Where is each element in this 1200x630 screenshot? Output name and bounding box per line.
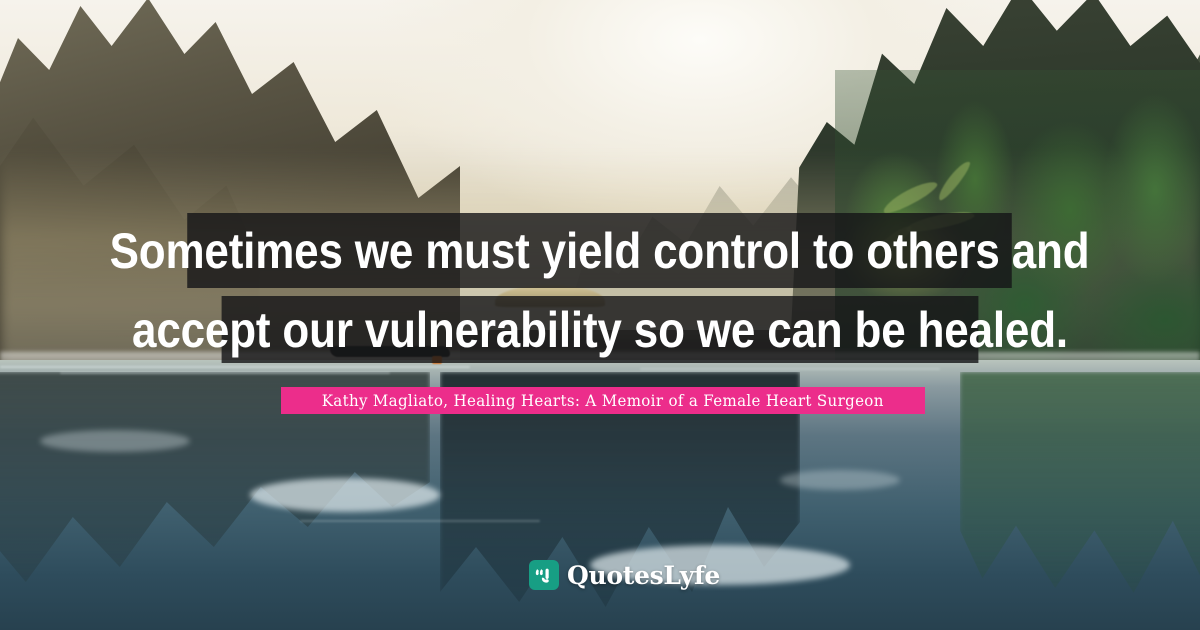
quote-line-1: Sometimes we must yield control to other… [187, 213, 1012, 288]
quote-card: Sometimes we must yield control to other… [0, 0, 1200, 630]
attribution-banner: Kathy Magliato, Healing Hearts: A Memoir… [281, 387, 925, 414]
attribution-text: Kathy Magliato, Healing Hearts: A Memoir… [322, 392, 884, 410]
quote-text-block: Sometimes we must yield control to other… [0, 0, 1200, 630]
quote-marks-icon [529, 560, 559, 590]
quote-line-2: accept our vulnerability so we can be he… [222, 296, 979, 363]
brand-name: QuotesLyfe [567, 563, 720, 588]
brand-logo[interactable]: QuotesLyfe [529, 560, 720, 590]
